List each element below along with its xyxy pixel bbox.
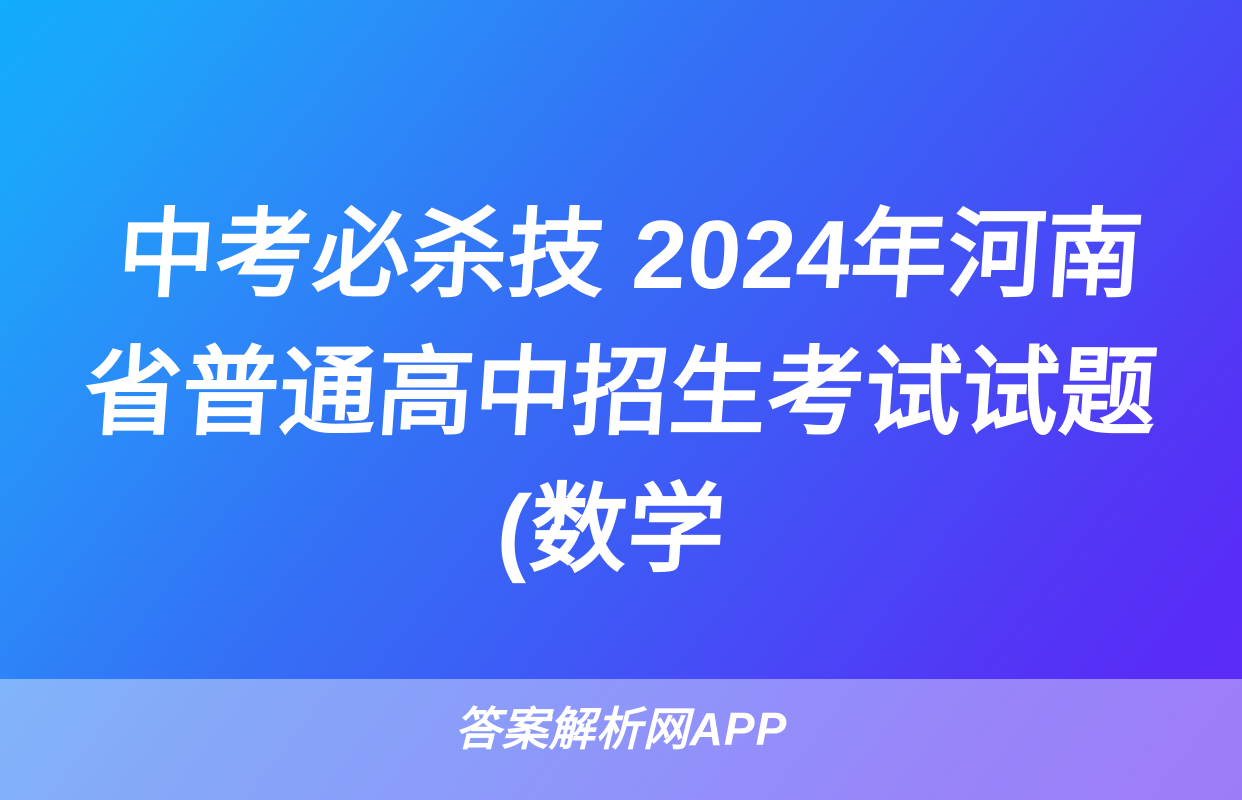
app-watermark: 答案解析网APP [0, 706, 1242, 752]
poster-canvas: 中考必杀技 2024年河南省普通高中招生考试试题(数学 答案解析网APP [0, 0, 1242, 800]
page-title: 中考必杀技 2024年河南省普通高中招生考试试题(数学 [0, 186, 1242, 599]
